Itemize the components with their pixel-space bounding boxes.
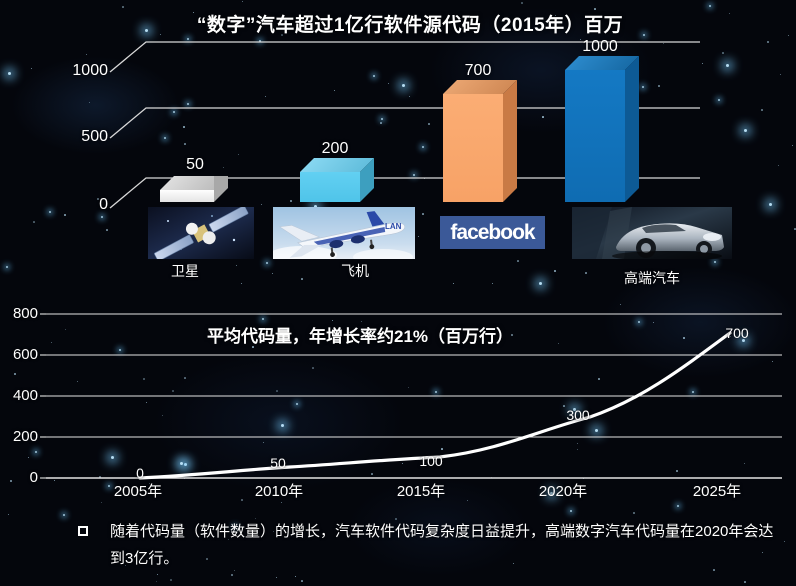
bottom-ytick-0: 0 — [0, 469, 38, 486]
luxury-car-icon — [572, 207, 732, 259]
bottom-line-chart: 平均代码量，年增长率约21%（百万行） 800 600 400 200 0 0 … — [0, 300, 796, 512]
bar-value-airplane: 200 — [295, 140, 375, 158]
point-label-2015: 100 — [406, 453, 456, 469]
airplane-icon: LAN — [273, 207, 415, 259]
bottom-xtick-2025: 2025年 — [672, 480, 762, 501]
bar-airplane — [300, 158, 374, 202]
bottom-ytick-400: 400 — [0, 387, 38, 404]
bar-value-satellite: 50 — [155, 156, 235, 174]
bottom-ytick-600: 600 — [0, 346, 38, 363]
bottom-xtick-2010: 2010年 — [234, 480, 324, 501]
category-label-satellite: 卫星 — [125, 261, 245, 281]
satellite-icon — [148, 207, 254, 259]
category-label-luxury-car: 高端汽车 — [592, 268, 712, 288]
top-ytick-0: 0 — [38, 196, 108, 214]
bar-satellite — [160, 176, 228, 202]
bar-airplane-front — [300, 172, 360, 202]
airplane-photo: LAN — [273, 207, 415, 259]
point-label-2020: 300 — [553, 407, 603, 423]
square-bullet-icon — [78, 526, 88, 536]
satellite-photo — [148, 207, 254, 259]
point-label-2005: 0 — [115, 465, 165, 481]
bar-luxury-car-front — [565, 70, 625, 202]
facebook-logo: facebook — [440, 216, 545, 249]
bar-luxury-car — [565, 56, 639, 202]
bar-facebook-side — [503, 80, 517, 202]
luxury-car-photo — [572, 207, 732, 259]
bar-facebook — [443, 80, 517, 202]
airplane-livery-text: LAN — [385, 222, 402, 231]
footer-text: 随着代码量（软件数量）的增长，汽车软件代码复杂度日益提升，高端数字汽车代码量在2… — [110, 518, 782, 572]
point-label-2025: 700 — [712, 325, 762, 341]
slide-canvas: “数字”汽车超过1亿行软件源代码（2015年）百万 1000 500 0 50 … — [0, 0, 796, 586]
top-ytick-500: 500 — [38, 128, 108, 146]
bar-satellite-front — [160, 190, 214, 202]
bar-value-facebook: 700 — [438, 62, 518, 80]
bar-luxury-car-side — [625, 56, 639, 202]
category-label-airplane: 飞机 — [295, 261, 415, 281]
bar-satellite-side — [214, 176, 228, 202]
bottom-xtick-2005: 2005年 — [93, 480, 183, 501]
footer-note: 随着代码量（软件数量）的增长，汽车软件代码复杂度日益提升，高端数字汽车代码量在2… — [0, 512, 796, 586]
bottom-xtick-2020: 2020年 — [518, 480, 608, 501]
point-label-2010: 50 — [253, 455, 303, 471]
facebook-logo-text: facebook — [450, 221, 534, 245]
bar-value-luxury-car: 1000 — [560, 38, 640, 56]
bar-facebook-front — [443, 94, 503, 202]
top-ytick-1000: 1000 — [38, 62, 108, 80]
bottom-xtick-2015: 2015年 — [376, 480, 466, 501]
bottom-ytick-200: 200 — [0, 428, 38, 445]
top-bar-chart: “数字”汽车超过1亿行软件源代码（2015年）百万 1000 500 0 50 … — [0, 0, 796, 298]
bottom-ytick-800: 800 — [0, 305, 38, 322]
